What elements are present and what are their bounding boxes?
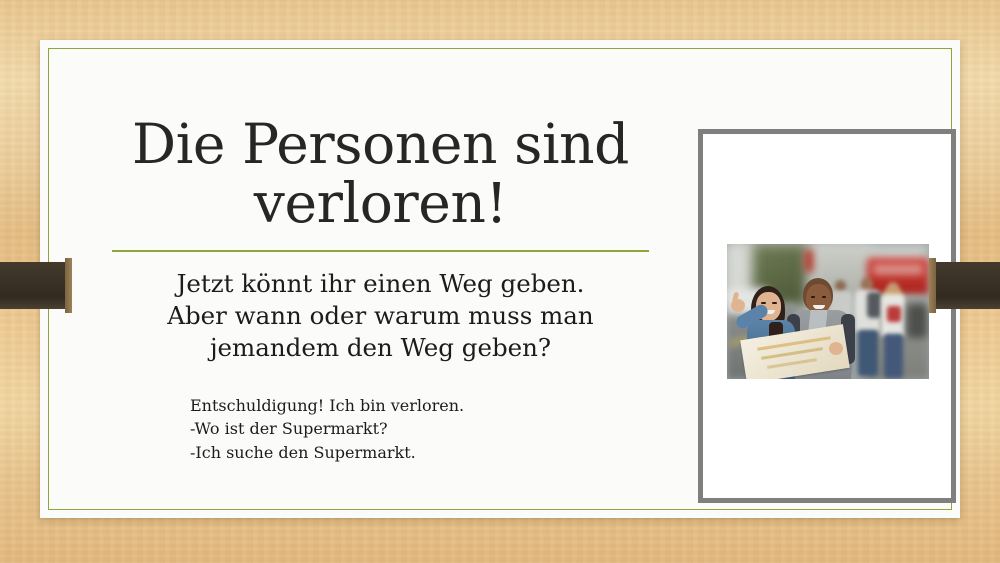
photo-street-sign xyxy=(805,250,813,272)
page-title: Die Personen sind verloren! xyxy=(88,115,673,234)
ribbon-band-left xyxy=(0,262,65,309)
photo-bg-red-item xyxy=(887,306,901,322)
photo-couple-with-map xyxy=(727,244,929,379)
slide-background: Die Personen sind verloren! Jetzt könnt … xyxy=(0,0,1000,563)
ribbon-band-right xyxy=(936,262,1000,309)
subtitle-line: Jetzt könnt ihr einen Weg geben. xyxy=(88,268,673,300)
photo-man-eye xyxy=(822,296,826,298)
subtitle-block: Jetzt könnt ihr einen Weg geben. Aber wa… xyxy=(88,268,673,364)
picture-frame xyxy=(698,129,956,503)
dialogue-block: Entschuldigung! Ich bin verloren. -Wo is… xyxy=(88,394,673,464)
slide-canvas: Die Personen sind verloren! Jetzt könnt … xyxy=(40,40,960,518)
photo-bg-backpack xyxy=(867,292,882,318)
photo-bg-person-legs xyxy=(884,334,903,378)
photo-man-hand xyxy=(829,342,843,355)
photo-man-eye xyxy=(811,296,815,298)
subtitle-line: jemandem den Weg geben? xyxy=(88,332,673,364)
photo-woman-eye xyxy=(772,302,777,304)
photo-bus-window xyxy=(873,264,923,275)
dialogue-line: -Ich suche den Supermarkt. xyxy=(190,441,673,464)
photo-bg-dark-shape xyxy=(907,304,927,338)
title-divider xyxy=(112,250,649,252)
subtitle-line: Aber wann oder warum muss man xyxy=(88,300,673,332)
photo-bg-person-legs xyxy=(858,330,878,376)
text-column: Die Personen sind verloren! Jetzt könnt … xyxy=(88,115,673,464)
dialogue-line: -Wo ist der Supermarkt? xyxy=(190,417,673,440)
dialogue-line: Entschuldigung! Ich bin verloren. xyxy=(190,394,673,417)
